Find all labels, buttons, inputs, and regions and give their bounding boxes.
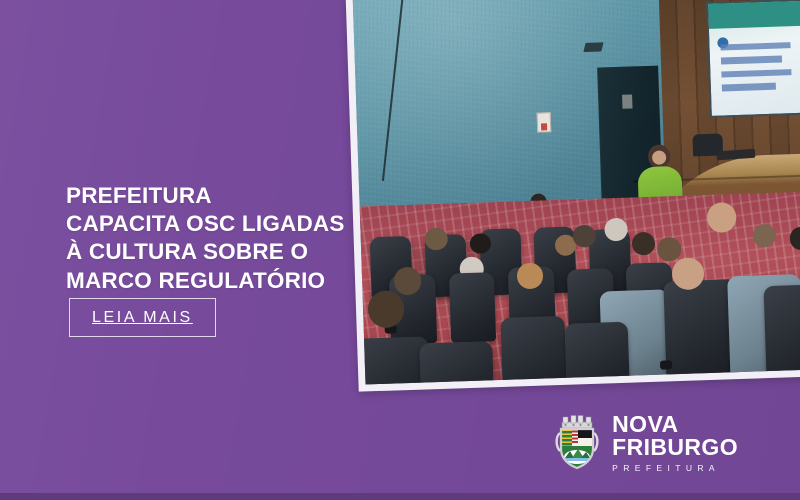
auditorium-seat bbox=[500, 316, 567, 384]
slide-text-line bbox=[722, 83, 775, 91]
auditorium-photo bbox=[353, 0, 800, 384]
read-more-button[interactable]: LEIA MAIS bbox=[69, 298, 216, 337]
headline: PREFEITURA CAPACITA OSC LIGADAS À CULTUR… bbox=[66, 182, 366, 295]
slide-text-line bbox=[722, 69, 792, 78]
logo-wordmark: NOVA FRIBURGO PREFEITURA bbox=[612, 413, 738, 472]
logo-subtitle: PREFEITURA bbox=[612, 464, 738, 473]
auditorium-seat bbox=[449, 272, 497, 343]
slide-header-bar bbox=[709, 1, 800, 29]
presenter-person bbox=[647, 145, 671, 170]
nova-friburgo-coat-of-arms-icon bbox=[553, 413, 601, 471]
headline-line-1: PREFEITURA bbox=[66, 182, 366, 210]
door-plate bbox=[622, 95, 632, 109]
auditorium-seat bbox=[764, 284, 800, 385]
wall-light-fixture bbox=[584, 42, 604, 52]
logo-line-friburgo: FRIBURGO bbox=[612, 436, 738, 459]
bottom-accent-band bbox=[0, 493, 800, 500]
headline-line-2: CAPACITA OSC LIGADAS bbox=[66, 210, 366, 238]
logo-line-nova: NOVA bbox=[612, 413, 738, 436]
slide-text-line bbox=[721, 56, 782, 65]
auditorium-seat bbox=[564, 322, 630, 385]
headline-line-3: À CULTURA SOBRE O bbox=[66, 238, 366, 266]
news-banner: PREFEITURA CAPACITA OSC LIGADAS À CULTUR… bbox=[0, 0, 800, 500]
slide-text-line bbox=[721, 42, 791, 51]
projection-screen bbox=[706, 0, 800, 118]
headline-line-4: MARCO REGULATÓRIO bbox=[66, 267, 366, 295]
wall-sign bbox=[537, 112, 552, 132]
auditorium-seat bbox=[419, 342, 494, 385]
nova-friburgo-logo[interactable]: NOVA FRIBURGO PREFEITURA bbox=[553, 413, 738, 472]
photo-frame bbox=[345, 0, 800, 392]
